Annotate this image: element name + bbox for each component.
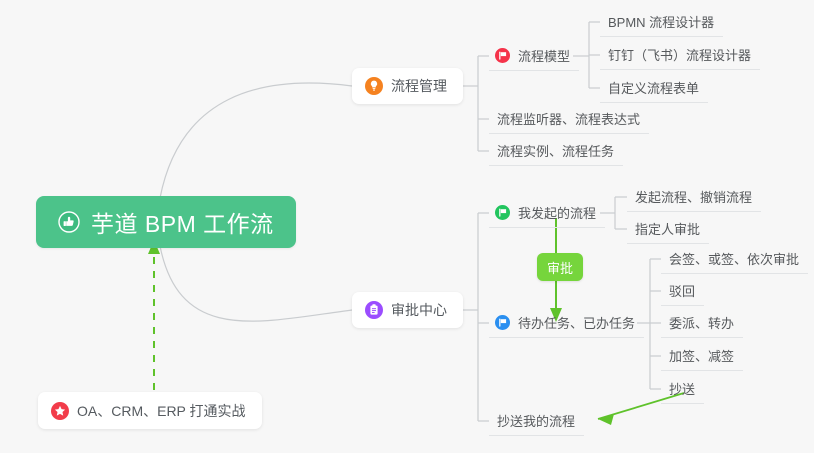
- node-start-cancel[interactable]: 发起流程、撤销流程: [627, 182, 761, 212]
- branch-approval-center[interactable]: 审批中心: [352, 292, 463, 328]
- lightbulb-icon: [365, 77, 383, 95]
- bottom-note-card[interactable]: OA、CRM、ERP 打通实战: [38, 392, 262, 429]
- node-assignee-approval[interactable]: 指定人审批: [627, 214, 709, 244]
- node-label: 我发起的流程: [518, 203, 596, 222]
- node-label: BPMN 流程设计器: [608, 12, 714, 31]
- node-listener-expression[interactable]: 流程监听器、流程表达式: [489, 104, 649, 134]
- node-label: 钉钉（飞书）流程设计器: [608, 45, 751, 64]
- bottom-note-label: OA、CRM、ERP 打通实战: [77, 401, 246, 421]
- clipboard-icon: [365, 301, 383, 319]
- approval-flow-tag: 审批: [537, 253, 583, 281]
- node-label: 发起流程、撤销流程: [635, 187, 752, 206]
- node-my-initiated[interactable]: 我发起的流程: [489, 198, 605, 228]
- root-node[interactable]: 芋道 BPM 工作流: [36, 196, 296, 248]
- node-label: 驳回: [669, 281, 695, 300]
- thumbs-up-icon: [58, 211, 80, 233]
- node-label: 抄送我的流程: [497, 411, 575, 430]
- branch-label: 审批中心: [391, 300, 447, 320]
- node-label: 待办任务、已办任务: [518, 313, 635, 332]
- flag-green-icon: [495, 205, 510, 220]
- node-label: 加签、减签: [669, 346, 734, 365]
- node-label: 流程监听器、流程表达式: [497, 109, 640, 128]
- node-label: 委派、转办: [669, 313, 734, 332]
- node-add-remove-sign[interactable]: 加签、减签: [661, 341, 743, 371]
- node-multi-sign[interactable]: 会签、或签、依次审批: [661, 244, 808, 274]
- star-icon: [51, 402, 69, 420]
- branch-label: 流程管理: [391, 76, 447, 96]
- node-label: 指定人审批: [635, 219, 700, 238]
- node-label: 流程实例、流程任务: [497, 141, 614, 160]
- node-cc-to-me[interactable]: 抄送我的流程: [489, 406, 584, 436]
- node-dingtalk-feishu-designer[interactable]: 钉钉（飞书）流程设计器: [600, 40, 760, 70]
- flag-blue-icon: [495, 315, 510, 330]
- node-delegate-transfer[interactable]: 委派、转办: [661, 308, 743, 338]
- node-instance-task[interactable]: 流程实例、流程任务: [489, 136, 623, 166]
- node-custom-process-form[interactable]: 自定义流程表单: [600, 73, 708, 103]
- branch-process-management[interactable]: 流程管理: [352, 68, 463, 104]
- node-label: 流程模型: [518, 46, 570, 65]
- node-label: 自定义流程表单: [608, 78, 699, 97]
- node-reject[interactable]: 驳回: [661, 276, 704, 306]
- flag-red-icon: [495, 48, 510, 63]
- node-label: 会签、或签、依次审批: [669, 249, 799, 268]
- mindmap-canvas: 芋道 BPM 工作流 流程管理 流程模型 BPMN 流程设计器 钉钉（飞书）流程: [0, 0, 814, 453]
- node-bpmn-designer[interactable]: BPMN 流程设计器: [600, 7, 723, 37]
- node-todo-done-tasks[interactable]: 待办任务、已办任务: [489, 308, 644, 338]
- tag-label: 审批: [547, 258, 573, 277]
- node-label: 抄送: [669, 379, 695, 398]
- node-process-model[interactable]: 流程模型: [489, 41, 579, 71]
- practice-dashed-arrow: [148, 240, 160, 390]
- node-carbon-copy[interactable]: 抄送: [661, 374, 704, 404]
- root-label: 芋道 BPM 工作流: [91, 205, 274, 239]
